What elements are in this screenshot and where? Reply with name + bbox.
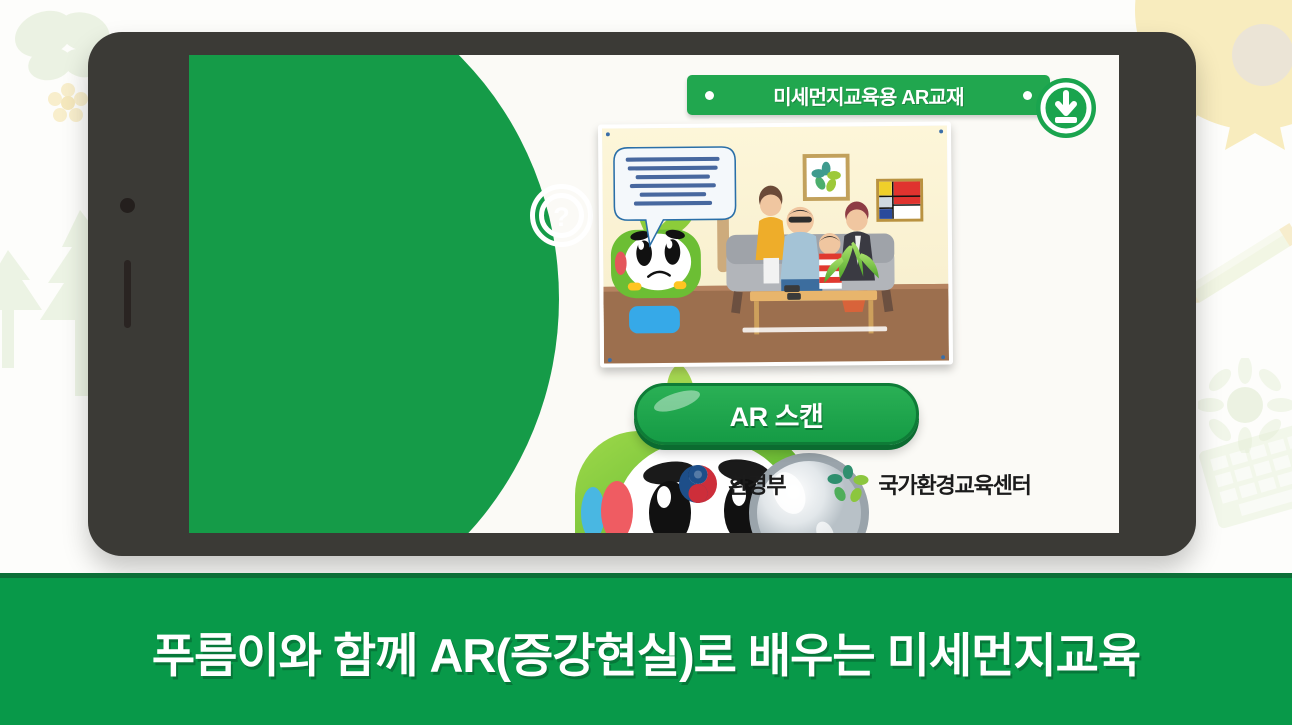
ar-material-title: 미세먼지교육용 AR교재 <box>773 81 963 110</box>
ar-material-title-banner: 미세먼지교육용 AR교재 <box>687 75 1050 115</box>
download-icon[interactable] <box>1035 77 1097 139</box>
green-hero-panel <box>189 55 559 533</box>
disc-decoration <box>1232 24 1292 86</box>
banner-dot-right <box>1023 91 1032 100</box>
ar-marker-card[interactable] <box>598 121 953 367</box>
ar-scan-label: AR 스캔 <box>730 395 824 434</box>
logo-ministry-of-environment: 환경부 <box>677 463 785 505</box>
sunflower-decoration-icon <box>1198 358 1292 453</box>
phone-volume-button[interactable] <box>124 260 131 328</box>
ar-card-illustration <box>602 125 949 365</box>
flower-decoration-icon <box>47 82 89 124</box>
footer-logos: 환경부 국가환경교육센터 <box>589 459 1119 509</box>
logo-label: 환경부 <box>728 468 785 500</box>
app-screen: ? AR로 배우는 미세먼지 환경안전교육 <box>189 55 1119 533</box>
bottom-banner: 푸름이와 함께 AR(증강현실)로 배우는 미세먼지교육 <box>0 573 1292 725</box>
phone-device-frame: ? AR로 배우는 미세먼지 환경안전교육 <box>88 32 1196 556</box>
bottom-banner-text: 푸름이와 함께 AR(증강현실)로 배우는 미세먼지교육 <box>152 617 1140 686</box>
ar-content-column: 미세먼지교육용 AR교재 <box>589 55 1119 533</box>
banner-dot-left <box>705 91 714 100</box>
logo-national-env-edu-center: 국가환경교육센터 <box>827 465 1030 503</box>
phone-camera-dot <box>120 198 135 213</box>
ar-scan-button[interactable]: AR 스캔 <box>634 383 919 445</box>
logo-label: 국가환경교육센터 <box>878 468 1030 500</box>
help-circle-icon[interactable]: ? <box>530 184 593 247</box>
svg-text:?: ? <box>553 202 570 232</box>
flower-leaf-logo-icon <box>827 465 869 503</box>
taegeuk-logo-icon <box>677 463 719 505</box>
